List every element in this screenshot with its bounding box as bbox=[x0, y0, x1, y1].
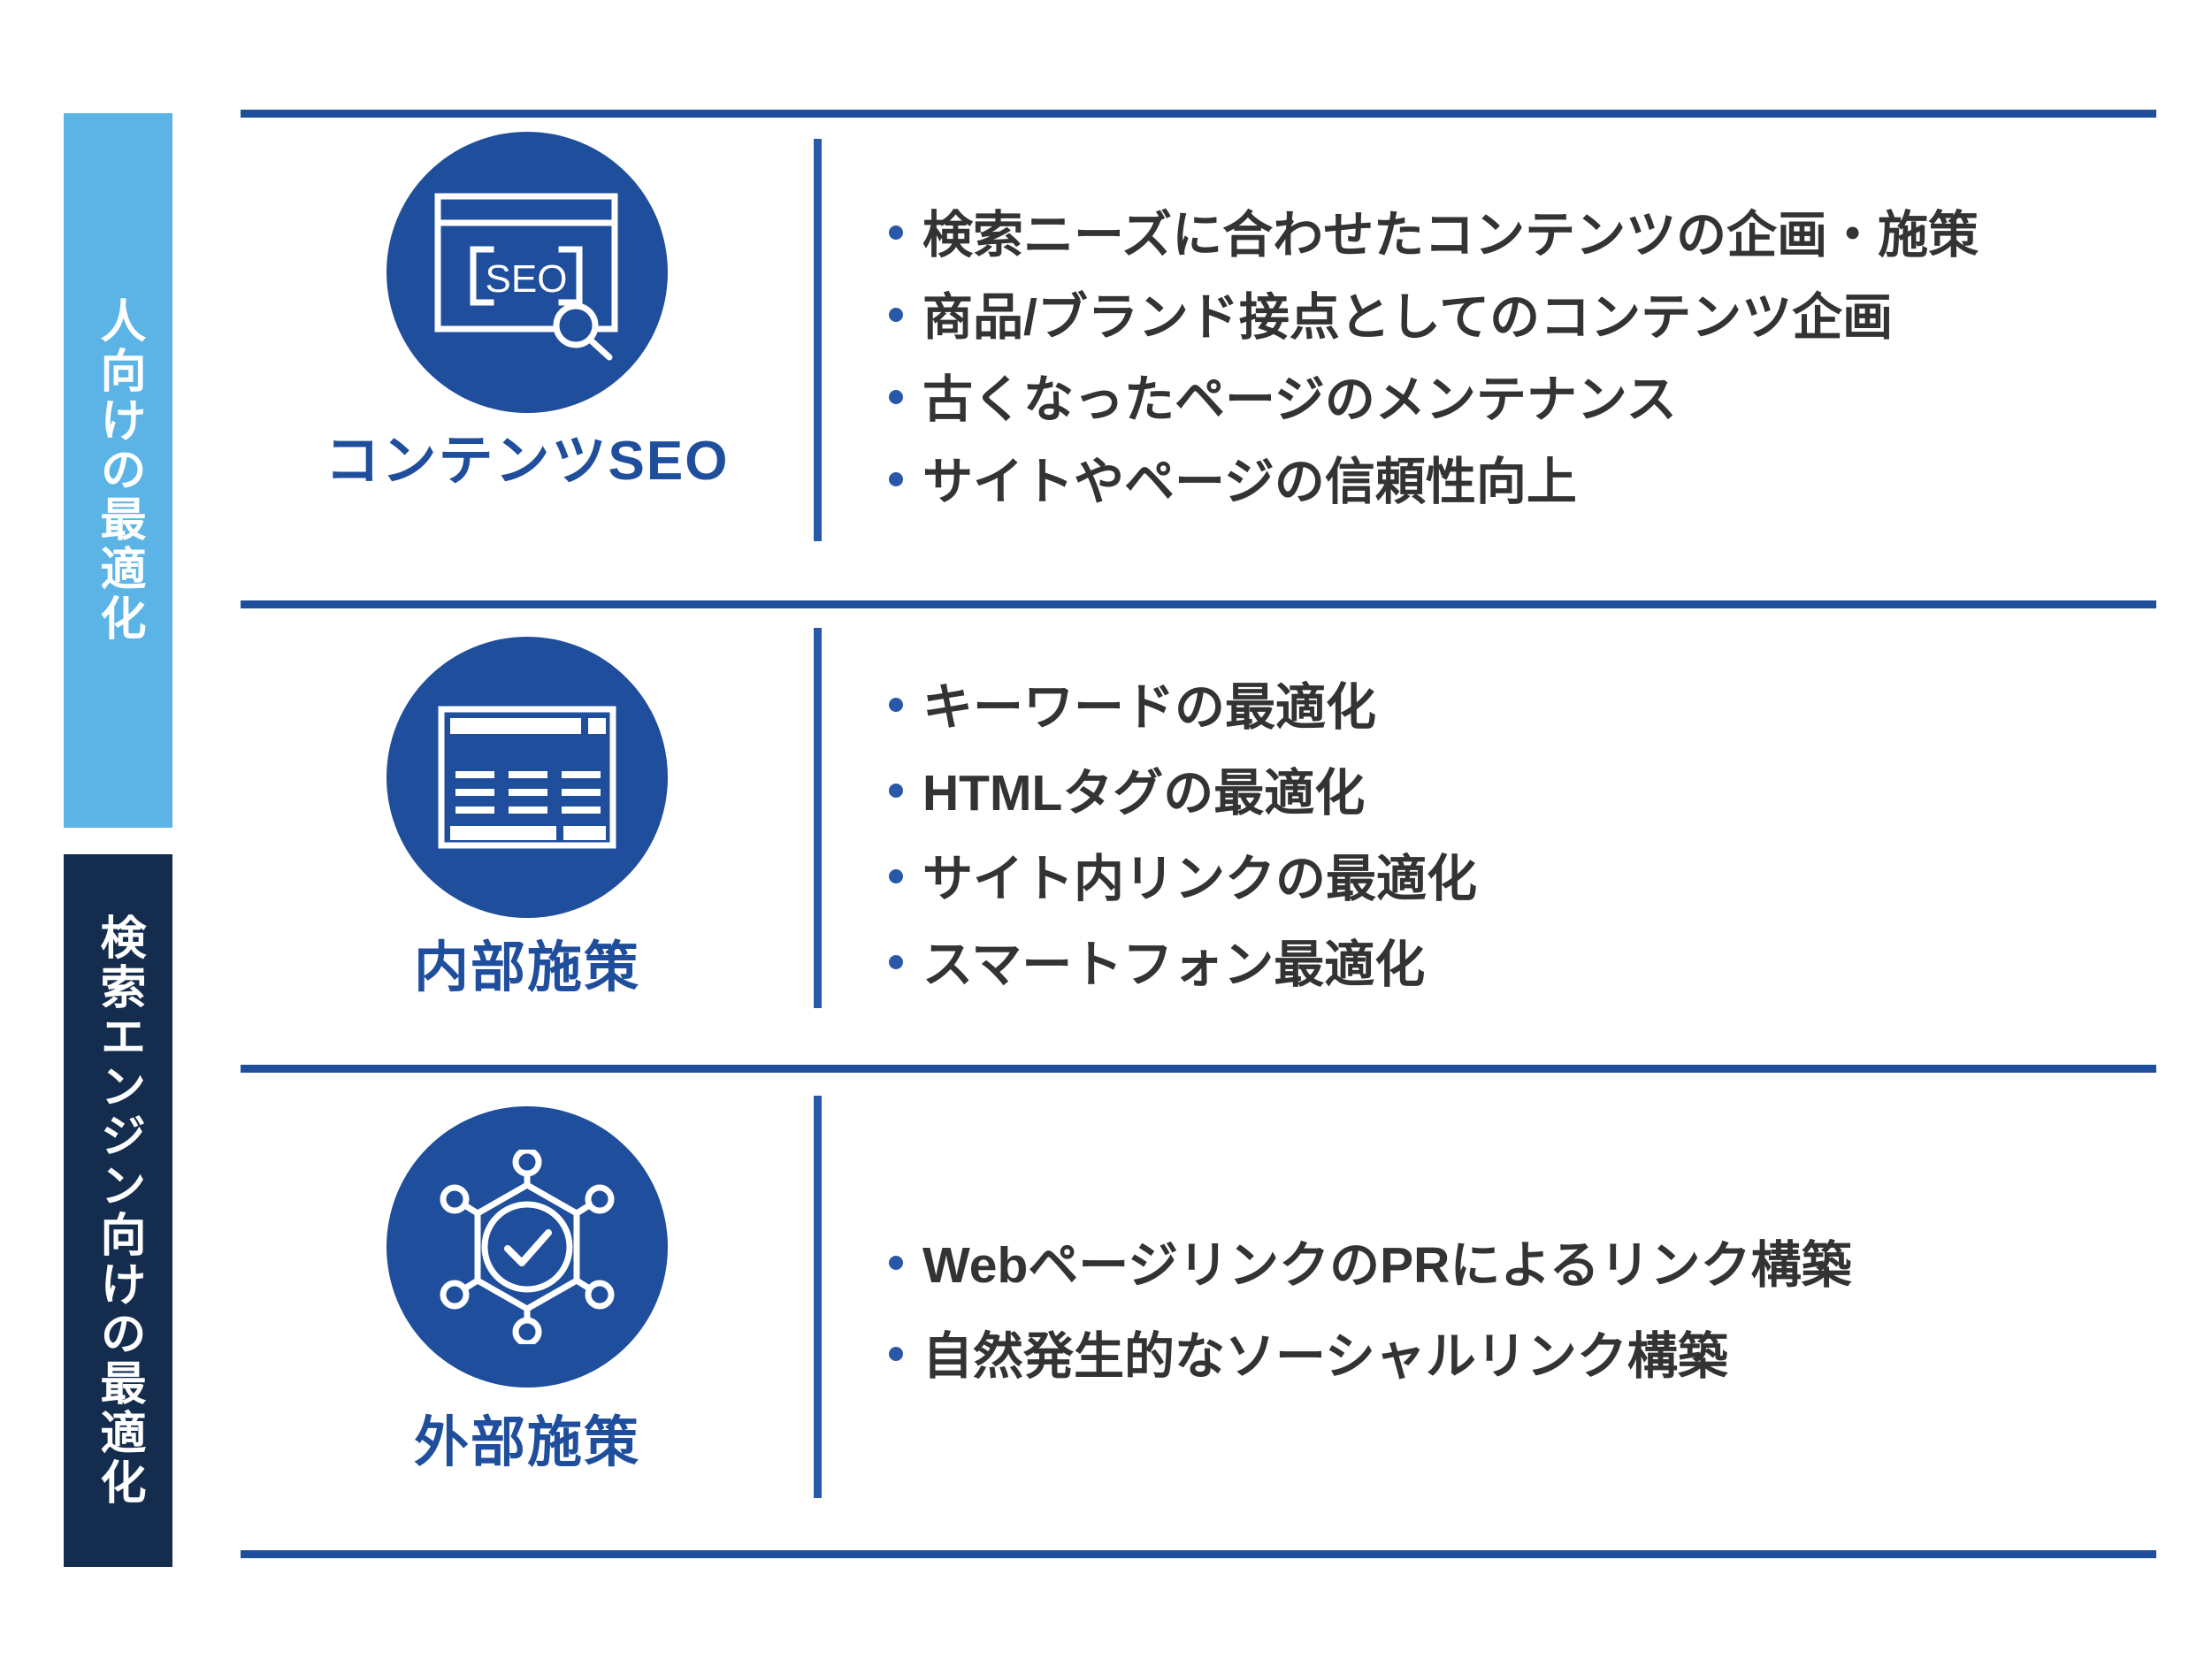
vertical-separator-row1 bbox=[814, 139, 822, 541]
seo-browser-search-icon: SEO bbox=[387, 132, 668, 413]
sidebar-category-human-label: 人向けの最適化 bbox=[95, 297, 142, 644]
sidebar-category-human-optimization: 人向けの最適化 bbox=[64, 113, 172, 828]
bullet-dot-icon bbox=[889, 784, 903, 798]
list-item-label: WebページリンクのPRによるリンク構築 bbox=[922, 1241, 1852, 1291]
list-item: サイトやページの信頼性向上 bbox=[889, 457, 2156, 508]
svg-text:SEO: SEO bbox=[486, 257, 568, 301]
sidebar-category-engine-label: 検索エンジン向けの最適化 bbox=[95, 914, 142, 1508]
list-item: キーワードの最適化 bbox=[889, 683, 2156, 733]
bullet-list-internal-measures: キーワードの最適化 HTMLタグの最適化 サイト内リンクの最適化 スマートフォン… bbox=[822, 608, 2156, 1065]
icon-label-external-measures: 外部施策 bbox=[414, 1416, 640, 1471]
list-item: スマートフォン最適化 bbox=[889, 940, 2156, 990]
vertical-separator-row3 bbox=[814, 1096, 822, 1498]
bullet-dot-icon bbox=[889, 390, 903, 404]
bullet-list-content-seo: 検索ニーズに合わせたコンテンツの企画・施策 商品/ブランド接点としてのコンテンツ… bbox=[822, 118, 2156, 600]
list-item-label: 検索ニーズに合わせたコンテンツの企画・施策 bbox=[922, 210, 1979, 261]
row-external-measures: 外部施策 WebページリンクのPRによるリンク構築 自然発生的なソーシャルリンク… bbox=[241, 1073, 2156, 1550]
bullet-dot-icon bbox=[889, 869, 903, 883]
divider-bottom bbox=[241, 1550, 2156, 1558]
icon-label-content-seo: コンテンツSEO bbox=[325, 434, 730, 489]
row-content-seo: SEO コンテンツSEO 検索ニーズに合わせたコンテンツの企画・施策 商品/ブラ… bbox=[241, 118, 2156, 600]
vertical-separator-row2 bbox=[814, 628, 822, 1008]
bullet-dot-icon bbox=[889, 955, 903, 969]
list-item: 商品/ブランド接点としてのコンテンツ企画 bbox=[889, 293, 2156, 343]
network-hexagon-check-icon bbox=[387, 1106, 668, 1388]
icon-cell-internal-measures: 内部施策 bbox=[241, 608, 814, 1065]
list-item-label: サイト内リンクの最適化 bbox=[922, 854, 1477, 905]
list-item: 古くなったページのメンテナンス bbox=[889, 375, 2156, 425]
list-item-label: HTMLタグの最適化 bbox=[922, 768, 1365, 819]
bullet-list-external-measures: WebページリンクのPRによるリンク構築 自然発生的なソーシャルリンク構築 bbox=[822, 1073, 2156, 1550]
icon-cell-content-seo: SEO コンテンツSEO bbox=[241, 118, 814, 600]
list-item-label: キーワードの最適化 bbox=[922, 683, 1376, 733]
row-internal-measures: 内部施策 キーワードの最適化 HTMLタグの最適化 サイト内リンクの最適化 スマ… bbox=[241, 608, 2156, 1065]
bullet-dot-icon bbox=[889, 226, 903, 240]
list-item: 検索ニーズに合わせたコンテンツの企画・施策 bbox=[889, 210, 2156, 261]
list-item-label: 古くなったページのメンテナンス bbox=[922, 375, 1677, 425]
bullet-dot-icon bbox=[889, 698, 903, 712]
list-item-label: 自然発生的なソーシャルリンク構築 bbox=[922, 1332, 1728, 1382]
list-item-label: サイトやページの信頼性向上 bbox=[922, 457, 1577, 508]
list-item-label: スマートフォン最適化 bbox=[922, 940, 1425, 990]
divider-between-row1-row2 bbox=[241, 600, 2156, 608]
webpage-layout-icon bbox=[387, 637, 668, 918]
divider-between-row2-row3 bbox=[241, 1065, 2156, 1073]
list-item: サイト内リンクの最適化 bbox=[889, 854, 2156, 905]
bullet-dot-icon bbox=[889, 472, 903, 486]
list-item: WebページリンクのPRによるリンク構築 bbox=[889, 1241, 2156, 1291]
list-item-label: 商品/ブランド接点としてのコンテンツ企画 bbox=[922, 293, 1893, 343]
icon-cell-external-measures: 外部施策 bbox=[241, 1073, 814, 1550]
list-item: HTMLタグの最適化 bbox=[889, 768, 2156, 819]
divider-top bbox=[241, 110, 2156, 118]
content-column: SEO コンテンツSEO 検索ニーズに合わせたコンテンツの企画・施策 商品/ブラ… bbox=[241, 0, 2156, 1659]
bullet-dot-icon bbox=[889, 1347, 903, 1361]
list-item: 自然発生的なソーシャルリンク構築 bbox=[889, 1332, 2156, 1382]
bullet-dot-icon bbox=[889, 1256, 903, 1270]
icon-label-internal-measures: 内部施策 bbox=[414, 941, 640, 996]
sidebar-category-search-engine-optimization: 検索エンジン向けの最適化 bbox=[64, 854, 172, 1567]
bullet-dot-icon bbox=[889, 308, 903, 322]
